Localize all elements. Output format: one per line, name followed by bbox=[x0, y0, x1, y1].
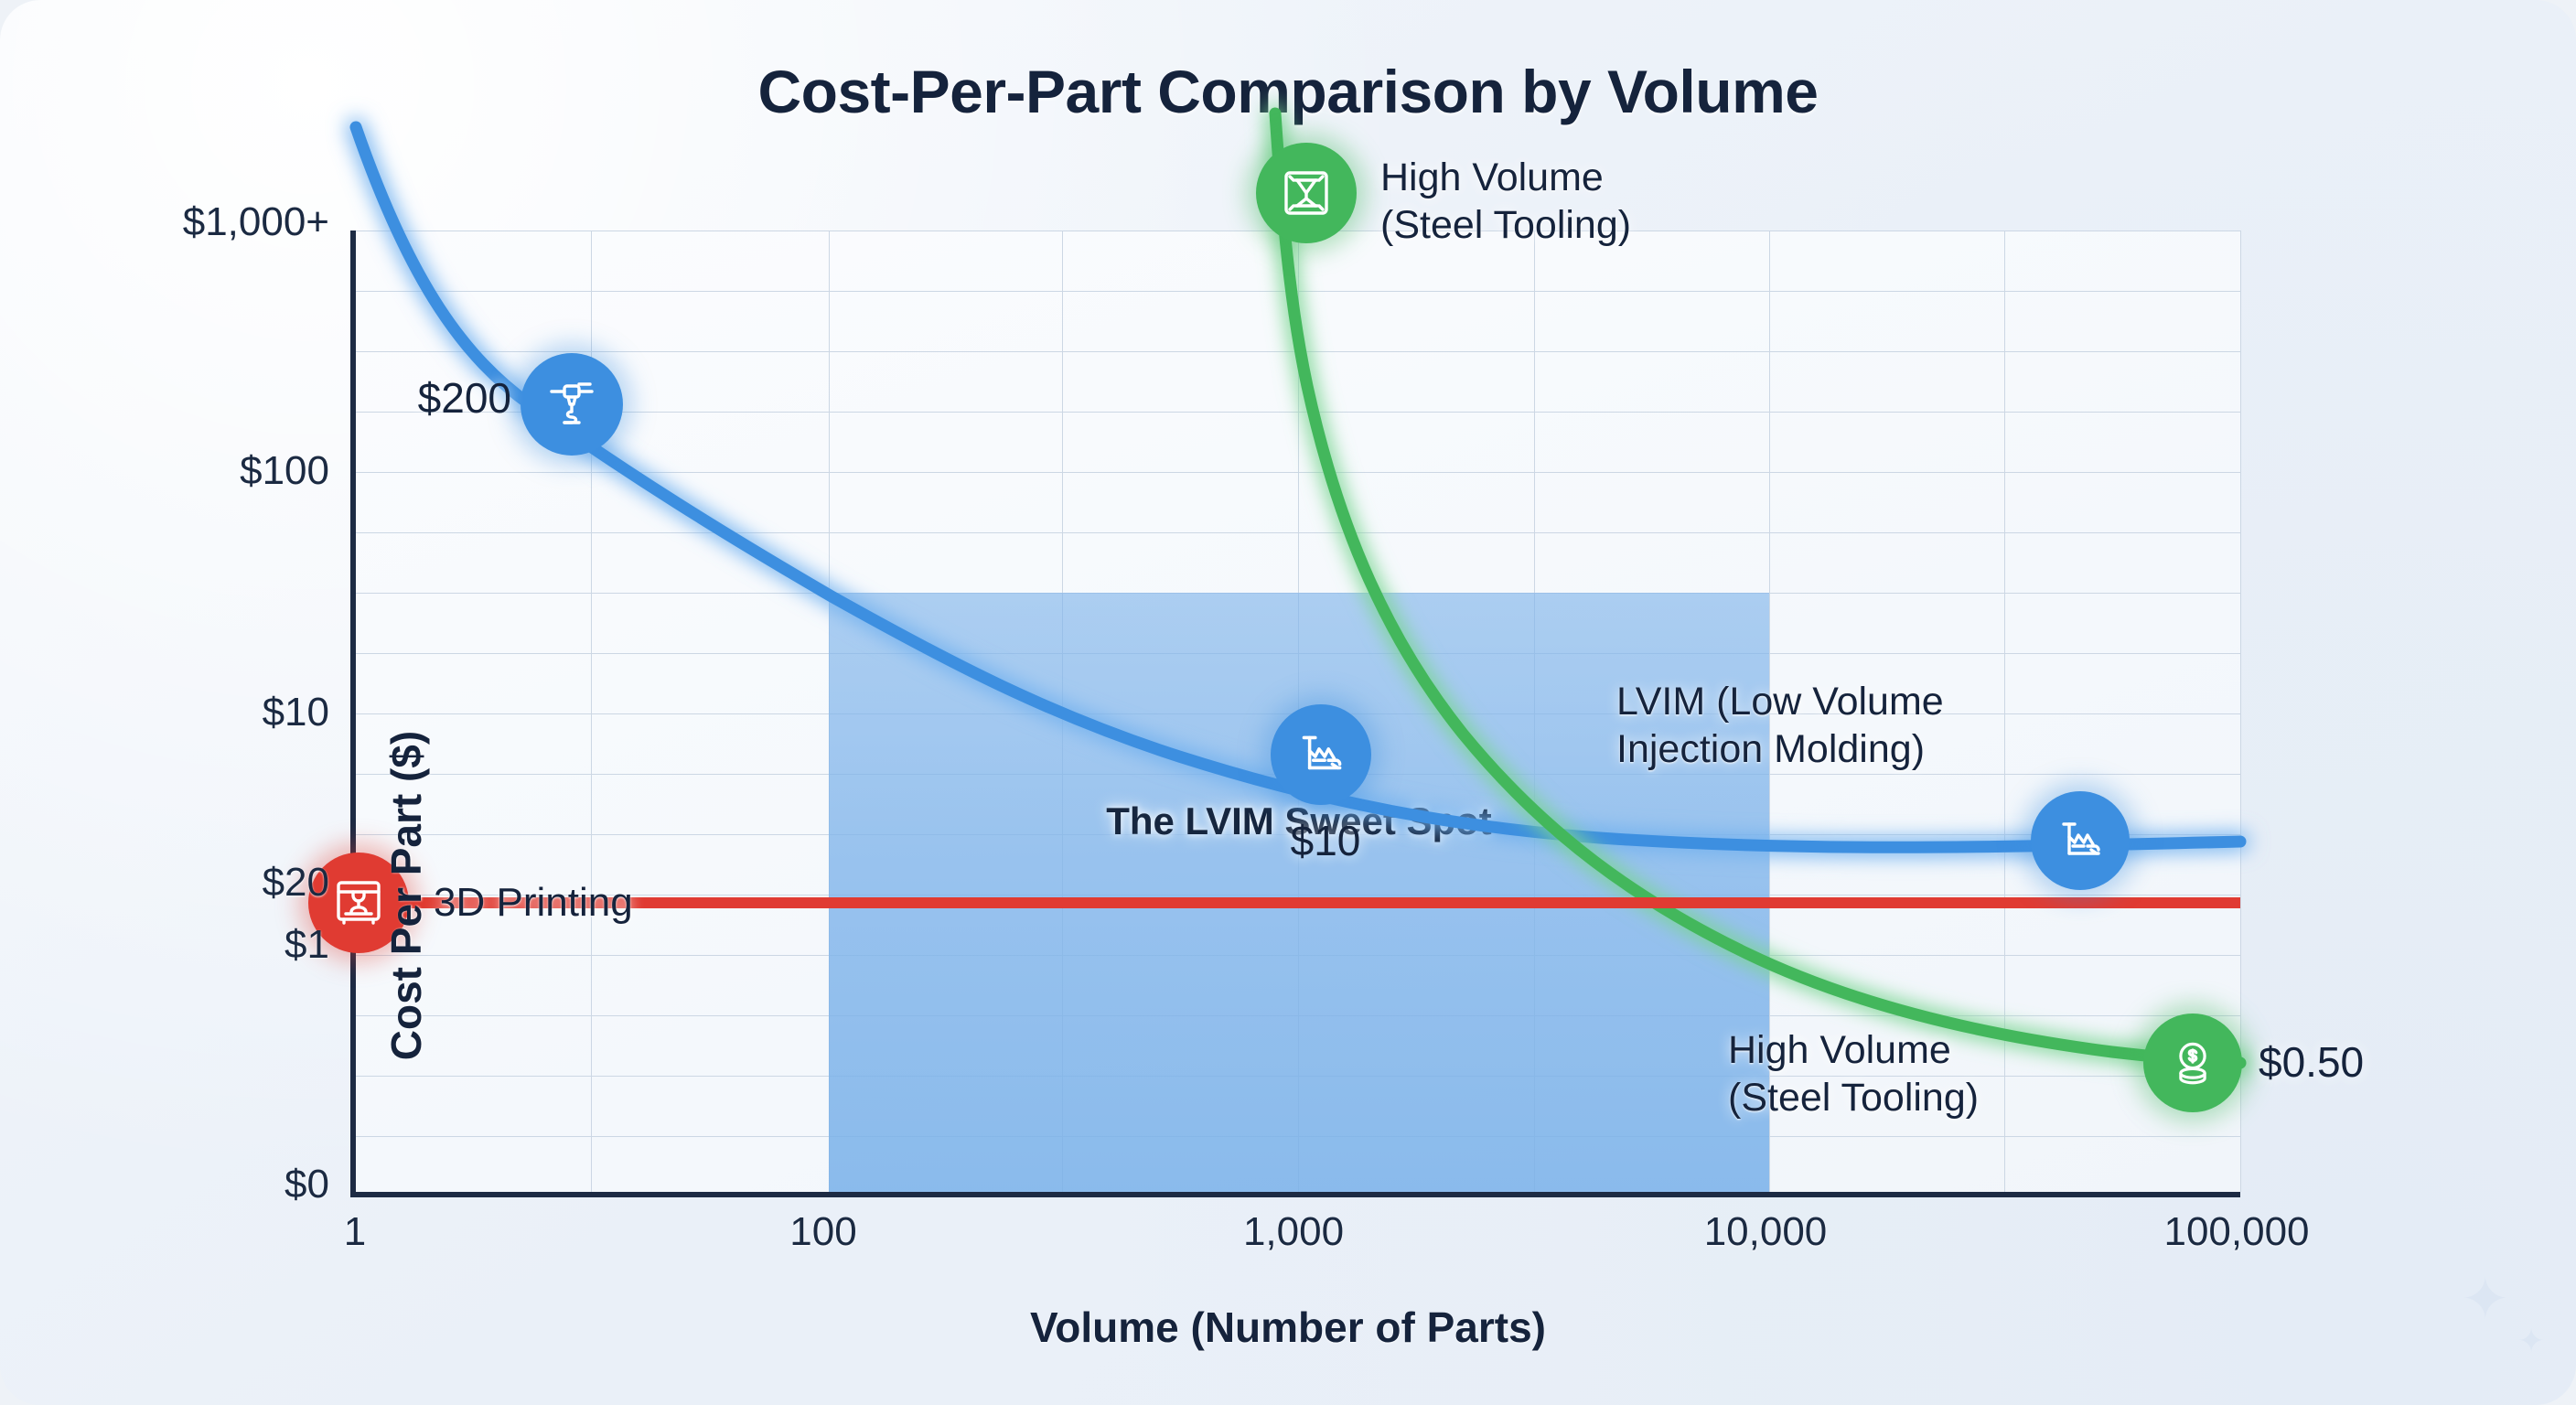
marker-lvim-10[interactable] bbox=[1271, 704, 1371, 805]
steel-tooling-curve bbox=[1275, 113, 2240, 1063]
y-tick-label: $0 bbox=[55, 1162, 329, 1207]
y-tick-label: $10 bbox=[55, 690, 329, 735]
annotation-lvim-line2: Injection Molding) bbox=[1616, 725, 2275, 773]
y-tick-label: $100 bbox=[55, 448, 329, 494]
nozzle-icon bbox=[542, 375, 601, 434]
injection-molding-icon bbox=[1291, 724, 1351, 785]
annotation-high-volume-bottom-line1: High Volume bbox=[1728, 1026, 2295, 1074]
marker-steel-tooling-top[interactable] bbox=[1256, 143, 1357, 243]
page-title: Cost-Per-Part Comparison by Volume bbox=[0, 57, 2576, 126]
value-label-10: $10 bbox=[1234, 816, 1417, 865]
marker-lvim-200[interactable] bbox=[521, 353, 623, 456]
injection-molding-icon bbox=[2051, 811, 2109, 870]
x-tick-label: 1 bbox=[209, 1209, 501, 1255]
mold-press-icon bbox=[1277, 164, 1336, 222]
y-tick-label: $20 bbox=[55, 860, 329, 906]
annotation-high-volume-top: High Volume (Steel Tooling) bbox=[1380, 154, 1966, 250]
value-label-200: $200 bbox=[310, 373, 511, 423]
x-tick-label: 1,000 bbox=[1147, 1209, 1440, 1255]
annotation-lvim: LVIM (Low Volume Injection Molding) bbox=[1616, 678, 2275, 774]
annotation-3d-printing: 3D Printing bbox=[434, 878, 909, 928]
annotation-high-volume-bottom: High Volume (Steel Tooling) bbox=[1728, 1026, 2295, 1122]
annotation-high-volume-bottom-line2: (Steel Tooling) bbox=[1728, 1074, 2295, 1121]
y-axis-title: Cost Per Part ($) bbox=[381, 603, 431, 1188]
x-tick-label: 100,000 bbox=[2090, 1209, 2383, 1255]
y-tick-label: $1,000+ bbox=[55, 199, 329, 245]
annotation-high-volume-top-line2: (Steel Tooling) bbox=[1380, 201, 1966, 249]
annotation-high-volume-top-line1: High Volume bbox=[1380, 154, 1966, 201]
y-tick-label: $1 bbox=[55, 922, 329, 968]
annotation-lvim-line1: LVIM (Low Volume bbox=[1616, 678, 2275, 725]
plot-area: The LVIM Sweet Spot bbox=[350, 231, 2240, 1197]
steel-tooling-curve-glow bbox=[1275, 113, 2240, 1063]
x-axis-title: Volume (Number of Parts) bbox=[0, 1303, 2576, 1352]
marker-lvim-end[interactable] bbox=[2031, 791, 2130, 890]
chart-card: ✦ ✦ Cost-Per-Part Comparison by Volume T… bbox=[0, 0, 2576, 1405]
x-tick-label: 100 bbox=[677, 1209, 970, 1255]
3d-printer-icon bbox=[329, 874, 388, 932]
x-tick-label: 10,000 bbox=[1619, 1209, 1912, 1255]
